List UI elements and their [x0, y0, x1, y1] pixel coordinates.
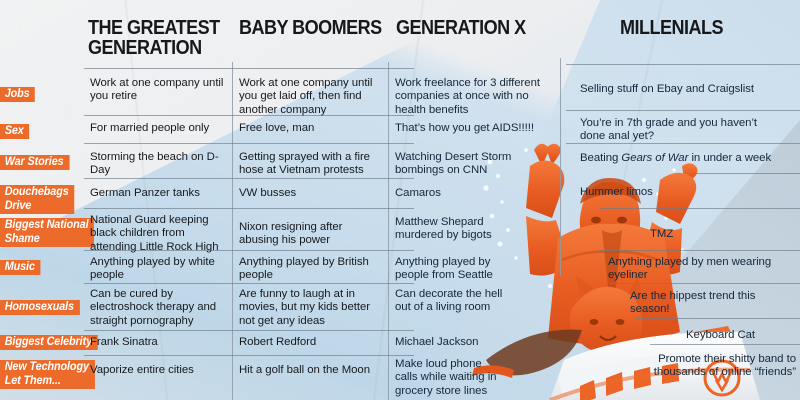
cell-greatest-newtech: Vaporize entire cities: [90, 364, 226, 377]
cell-genx-jobs: Work freelance for 3 different companies…: [395, 77, 547, 117]
row-rule-8: [84, 355, 414, 356]
cell-genx-homosexuals: Can decorate the hell out of a living ro…: [395, 288, 519, 315]
column-header-genx-label: GENERATION X: [396, 16, 526, 39]
column-rule-2: [388, 62, 389, 400]
row-rule-1m: [566, 110, 800, 111]
cell-boomers-jobs: Work at one company until you get laid o…: [239, 77, 383, 117]
cell-millenials-douchebags: Hummer limos: [580, 186, 780, 199]
row-rule-4m: [600, 208, 800, 209]
row-label-music: Music: [0, 260, 41, 275]
cell-boomers-homosexuals: Are funny to laugh at in movies, but my …: [239, 288, 385, 328]
cell-boomers-newtech: Hit a golf ball on the Moon: [239, 364, 383, 377]
column-rule-1: [232, 62, 233, 400]
cell-millenials-newtech: Promote their shitty band to thousands o…: [610, 353, 796, 380]
cell-boomers-war: Getting sprayed with a fire hose at Viet…: [239, 151, 383, 178]
cell-millenials-shame: TMZ: [650, 228, 790, 241]
column-header-greatest-label: THE GREATEST GENERATION: [88, 16, 220, 59]
cell-greatest-jobs: Work at one company until you retire: [90, 77, 226, 104]
game-title-gears-of-war: Gears of War: [621, 152, 688, 164]
row-label-homosexuals: Homosexuals: [0, 300, 80, 315]
column-header-genx: GENERATION X: [396, 18, 563, 38]
row-rule-6: [84, 283, 414, 284]
cell-genx-newtech: Make loud phone calls while waiting in g…: [395, 358, 507, 398]
column-header-boomers: BABY BOOMERS: [239, 18, 397, 38]
cell-millenials-homosexuals: Are the hippest trend this season!: [630, 290, 790, 317]
cell-millenials-war: Beating Gears of War in under a week: [580, 152, 795, 165]
column-header-millenials: MILLENIALS: [620, 18, 796, 38]
column-header-millenials-label: MILLENIALS: [620, 16, 723, 39]
cell-greatest-music: Anything played by white people: [90, 256, 226, 283]
cell-boomers-shame: Nixon resigning after abusing his power: [239, 221, 383, 248]
row-rule-5m: [600, 250, 800, 251]
cell-greatest-celebrity: Frank Sinatra: [90, 336, 226, 349]
cell-genx-music: Anything played by people from Seattle: [395, 256, 515, 283]
row-rule-top: [84, 68, 414, 69]
cell-greatest-homosexuals: Can be cured by electroshock therapy and…: [90, 288, 230, 328]
row-label-jobs: Jobs: [0, 87, 35, 102]
row-rule-7m: [636, 318, 800, 319]
infographic-root: THE GREATEST GENERATION BABY BOOMERS GEN…: [0, 0, 800, 400]
row-label-new-technology: New Technology Let Them...: [0, 360, 95, 389]
row-label-douchebags-drive: Douchebags Drive: [0, 185, 74, 214]
cell-greatest-war: Storming the beach on D-Day: [90, 151, 226, 178]
cell-boomers-celebrity: Robert Redford: [239, 336, 383, 349]
cell-millenials-celebrity: Keyboard Cat: [686, 329, 796, 342]
cell-genx-sex: That’s how you get AIDS!!!!!: [395, 122, 547, 135]
comparison-table: THE GREATEST GENERATION BABY BOOMERS GEN…: [0, 0, 800, 400]
cell-greatest-shame: National Guard keeping black children fr…: [90, 214, 232, 254]
row-label-biggest-national-shame: Biggest National Shame: [0, 218, 94, 247]
row-rule-7: [84, 330, 414, 331]
cell-boomers-douchebags: VW busses: [239, 187, 383, 200]
row-label-sex: Sex: [0, 124, 29, 139]
row-rule-8m: [650, 344, 800, 345]
cell-genx-celebrity: Michael Jackson: [395, 336, 535, 349]
cell-millenials-music: Anything played by men wearing eyeliner: [608, 256, 783, 283]
cell-genx-douchebags: Camaros: [395, 187, 535, 200]
cell-boomers-music: Anything played by British people: [239, 256, 383, 283]
cell-millenials-jobs: Selling stuff on Ebay and Craigslist: [580, 83, 795, 96]
row-rule-top-m: [566, 64, 800, 65]
row-rule-4: [84, 208, 414, 209]
row-label-war-stories: War Stories: [0, 155, 69, 170]
cell-greatest-douchebags: German Panzer tanks: [90, 187, 226, 200]
column-header-greatest: THE GREATEST GENERATION: [88, 18, 246, 58]
cell-boomers-sex: Free love, man: [239, 122, 383, 135]
row-rule-6m: [610, 283, 800, 284]
cell-millenials-sex: You’re in 7th grade and you haven’t done…: [580, 117, 785, 144]
row-rule-2: [84, 143, 414, 144]
row-rule-3m: [690, 173, 800, 174]
column-header-boomers-label: BABY BOOMERS: [239, 16, 382, 39]
cell-greatest-sex: For married people only: [90, 122, 226, 135]
cell-genx-shame: Matthew Shepard murdered by bigots: [395, 216, 525, 243]
row-label-biggest-celebrity: Biggest Celebrity: [0, 335, 98, 350]
column-rule-3: [560, 58, 561, 276]
row-rule-3: [84, 178, 414, 179]
cell-genx-war: Watching Desert Storm bombings on CNN: [395, 151, 535, 178]
